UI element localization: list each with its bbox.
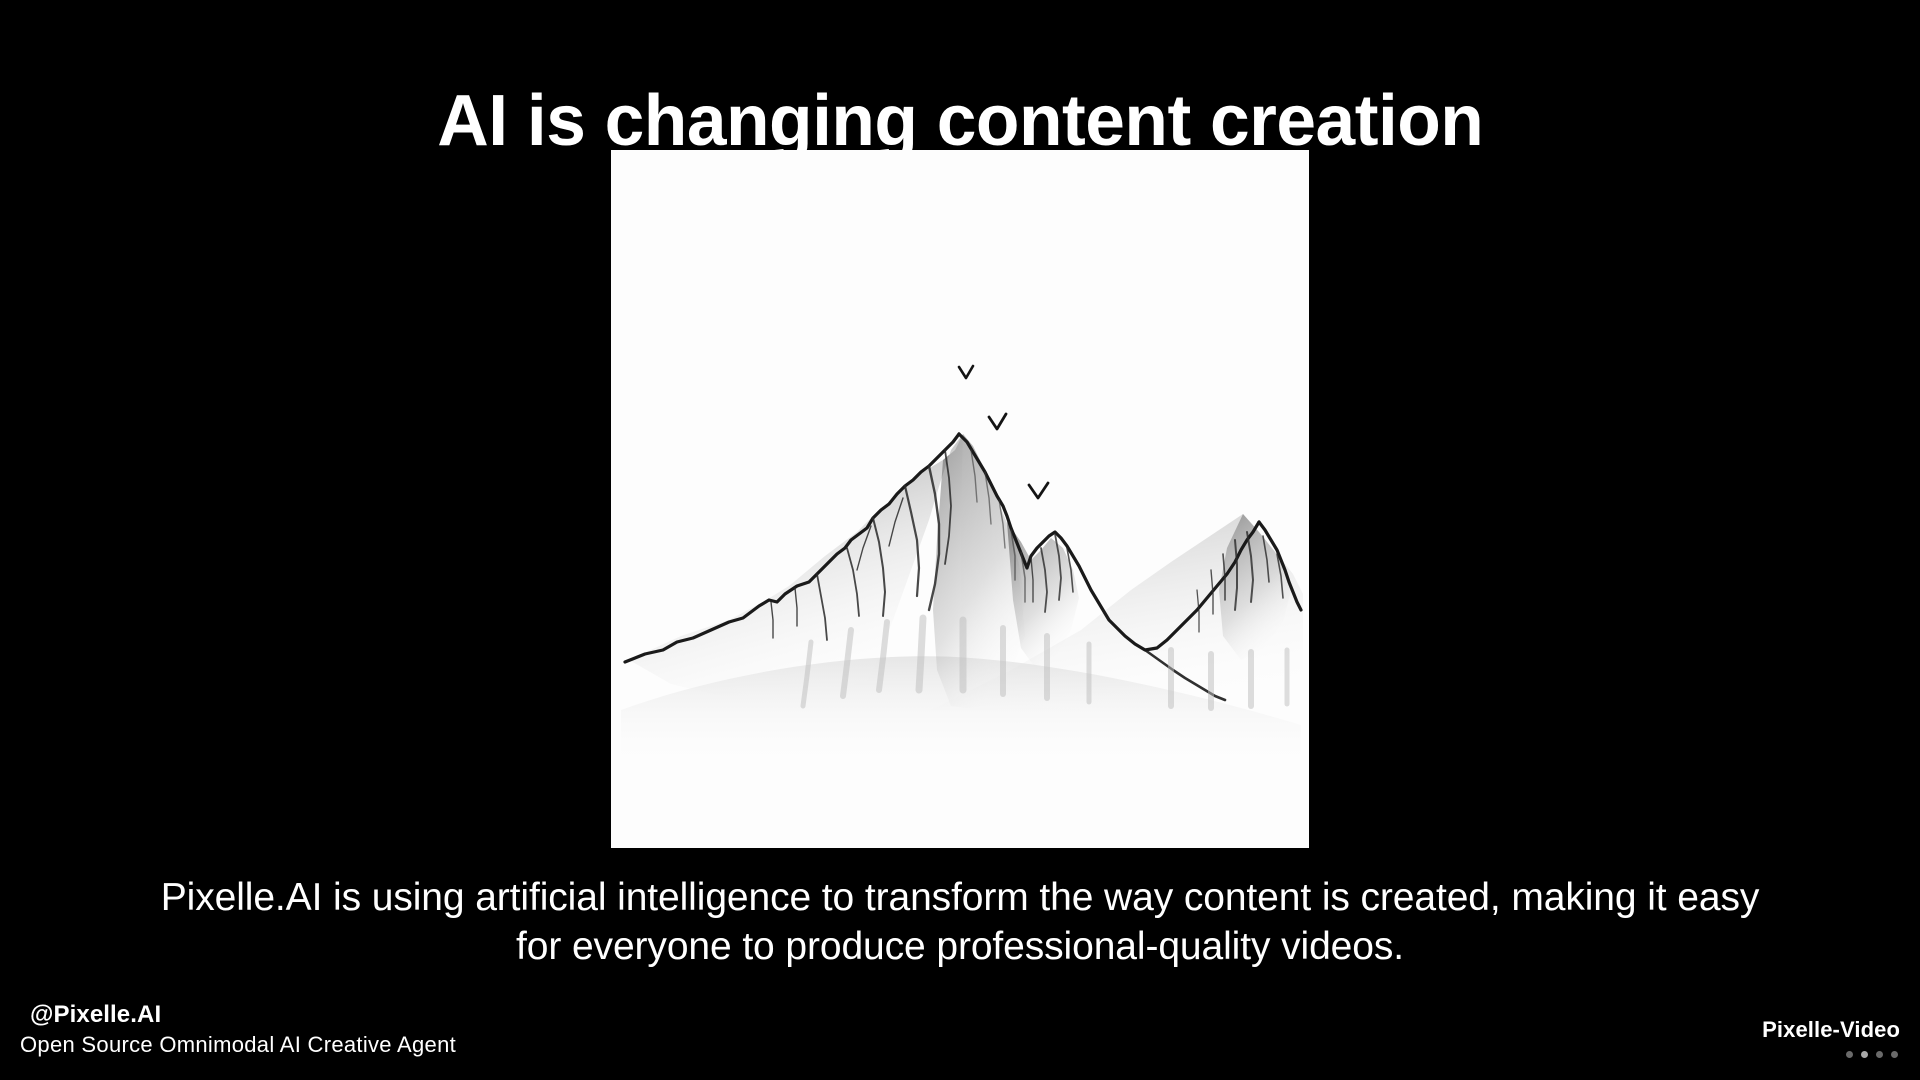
watermark-dot bbox=[1846, 1051, 1853, 1058]
watermark-dot bbox=[1891, 1051, 1898, 1058]
mountain-sketch-image bbox=[611, 150, 1309, 848]
brand-handle: @Pixelle.AI bbox=[30, 1000, 456, 1030]
caption-text: Pixelle.AI is using artificial intellige… bbox=[0, 873, 1920, 971]
slide-canvas: AI is changing content creation bbox=[0, 0, 1920, 1080]
watermark-dots bbox=[1762, 1051, 1900, 1058]
mountain-sketch-svg bbox=[611, 150, 1309, 848]
watermark-block: Pixelle-Video bbox=[1762, 1017, 1900, 1058]
caption-line-2: for everyone to produce professional-qua… bbox=[0, 922, 1920, 971]
brand-block: @Pixelle.AI Open Source Omnimodal AI Cre… bbox=[20, 1000, 456, 1060]
watermark-dot bbox=[1861, 1051, 1868, 1058]
caption-line-1: Pixelle.AI is using artificial intellige… bbox=[0, 873, 1920, 922]
watermark-label: Pixelle-Video bbox=[1762, 1017, 1900, 1043]
brand-tagline: Open Source Omnimodal AI Creative Agent bbox=[20, 1030, 456, 1060]
watermark-dot bbox=[1876, 1051, 1883, 1058]
